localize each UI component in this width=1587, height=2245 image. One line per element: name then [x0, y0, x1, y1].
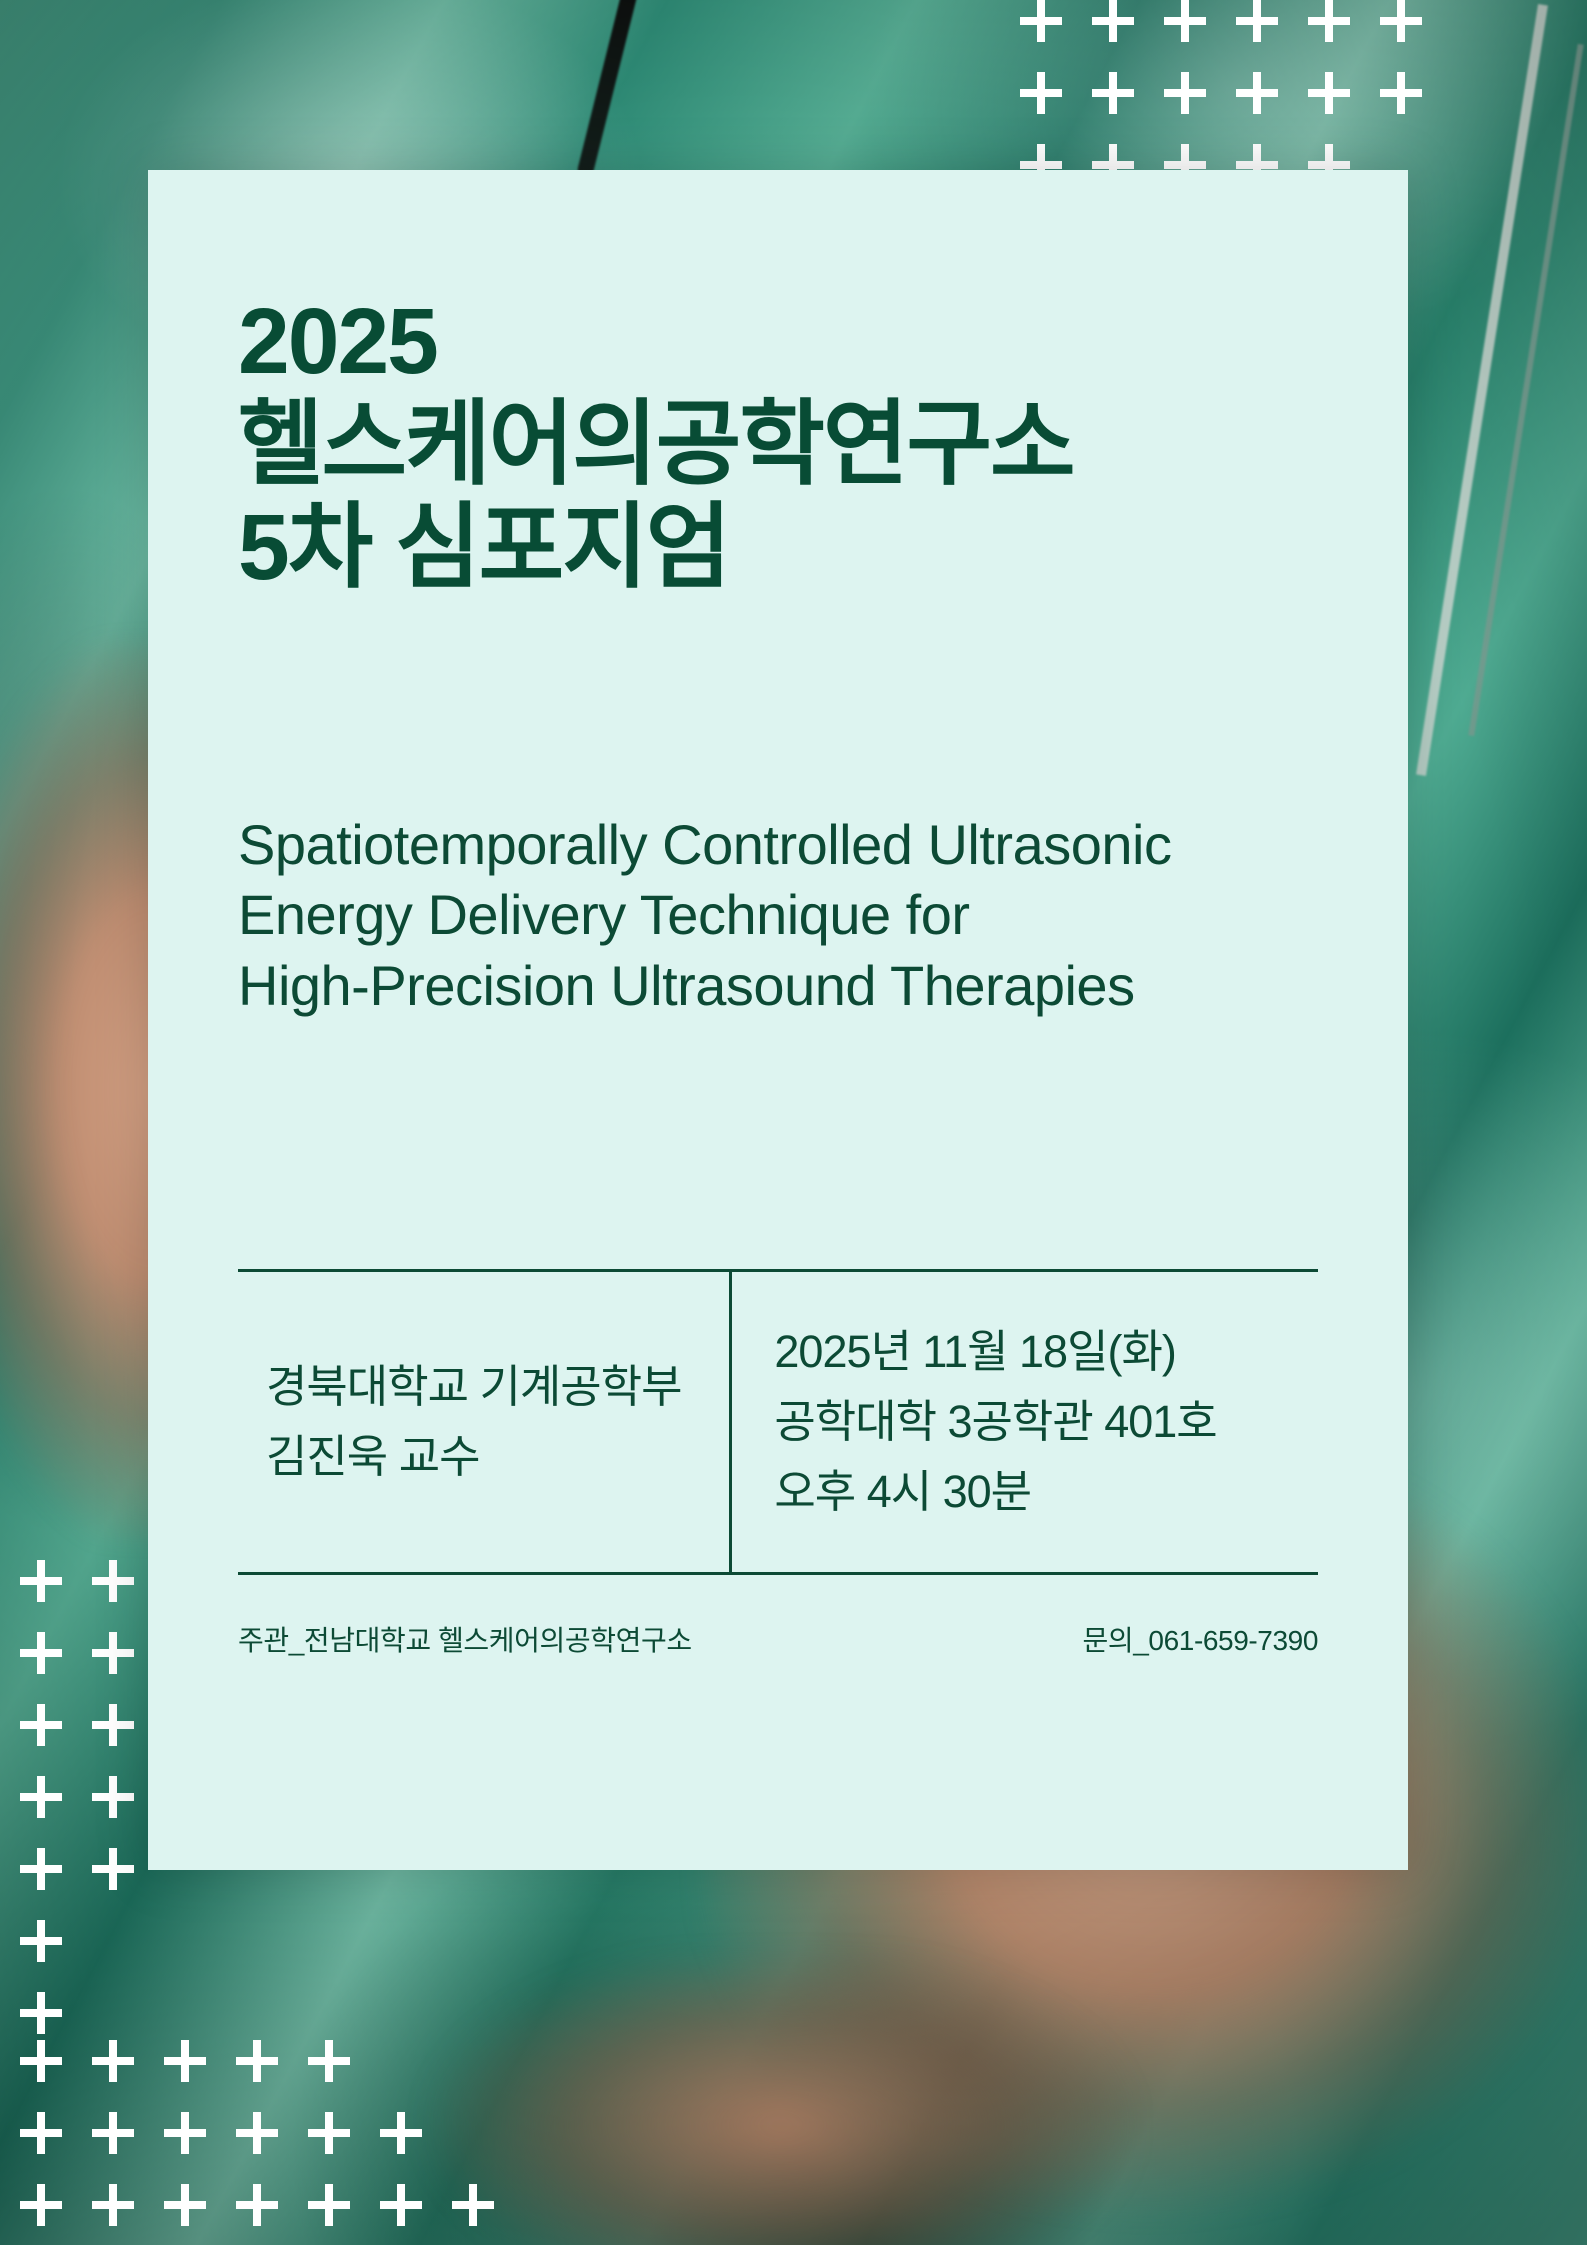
speaker-name: 김진욱 교수	[266, 1422, 699, 1492]
symposium-poster: 2025 헬스케어의공학연구소 5차 심포지엄 Spatiotemporally…	[0, 0, 1587, 2245]
footer-host: 주관_전남대학교 헬스케어의공학연구소	[238, 1619, 692, 1659]
event-info-row: 경북대학교 기계공학부 김진욱 교수 2025년 11월 18일(화) 공학대학…	[238, 1272, 1318, 1572]
event-venue: 공학대학 3공학관 401호	[774, 1387, 1298, 1457]
event-details-block: 2025년 11월 18일(화) 공학대학 3공학관 401호 오후 4시 30…	[732, 1272, 1318, 1572]
speaker-block: 경북대학교 기계공학부 김진욱 교수	[238, 1272, 729, 1572]
event-time: 오후 4시 30분	[774, 1457, 1298, 1527]
poster-subtitle-english: Spatiotemporally Controlled Ultrasonic E…	[238, 600, 1318, 1022]
poster-card: 2025 헬스케어의공학연구소 5차 심포지엄 Spatiotemporally…	[148, 170, 1408, 1870]
poster-footer: 주관_전남대학교 헬스케어의공학연구소 문의_061-659-7390	[238, 1575, 1318, 1659]
poster-title-korean: 2025 헬스케어의공학연구소 5차 심포지엄	[238, 290, 1318, 600]
footer-contact: 문의_061-659-7390	[1083, 1619, 1318, 1659]
event-date: 2025년 11월 18일(화)	[774, 1317, 1298, 1387]
speaker-affiliation: 경북대학교 기계공학부	[266, 1352, 699, 1422]
